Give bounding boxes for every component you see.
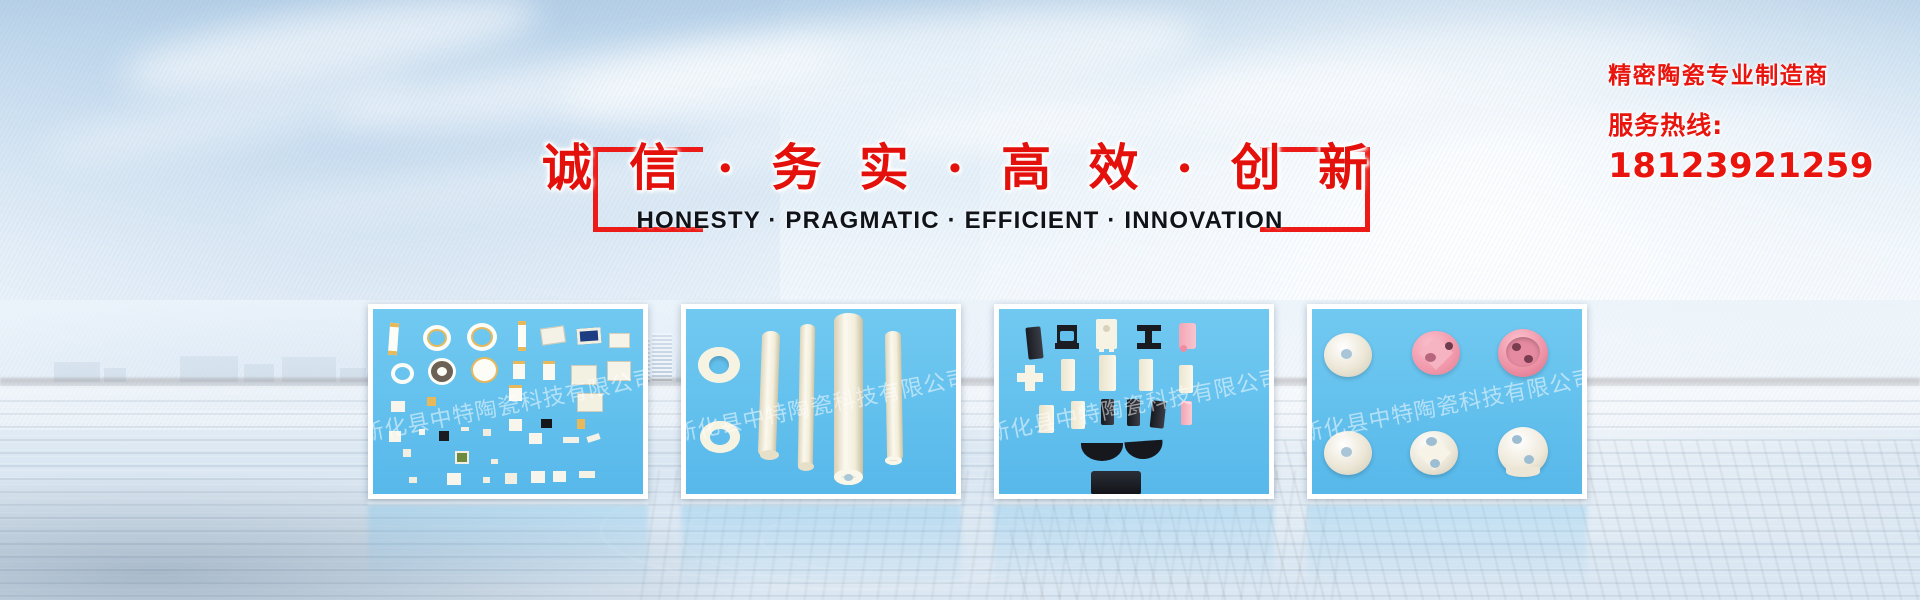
hotline-number[interactable]: 18123921259 <box>1608 146 1874 186</box>
panel-image: 新化县中特陶瓷科技有限公司 <box>373 309 643 494</box>
panel-image: 新化县中特陶瓷科技有限公司 <box>999 309 1269 494</box>
product-panel-ceramic-blocks-blades[interactable]: 新化县中特陶瓷科技有限公司 <box>994 304 1274 499</box>
product-panel-smd-ceramic-components[interactable]: 新化县中特陶瓷科技有限公司 <box>368 304 648 499</box>
hotline-label: 服务热线: <box>1608 106 1874 142</box>
panel-image: 新化县中特陶瓷科技有限公司 <box>1312 309 1582 494</box>
slogan-english: HONESTY · PRAGMATIC · EFFICIENT · INNOVA… <box>0 207 1920 235</box>
panel-reflections <box>368 505 1587 583</box>
contact-block: 精密陶瓷专业制造商 服务热线: 18123921259 <box>1608 56 1874 186</box>
manufacturer-tagline: 精密陶瓷专业制造商 <box>1608 56 1874 90</box>
panel-image: 新化县中特陶瓷科技有限公司 <box>686 309 956 494</box>
product-panel-ceramic-tubes-rings[interactable]: 新化县中特陶瓷科技有限公司 <box>681 304 961 499</box>
promo-banner: 诚 信 · 务 实 · 高 效 · 创 新 HONESTY · PRAGMATI… <box>0 0 1920 600</box>
product-panel-ceramic-discs-nozzles[interactable]: 新化县中特陶瓷科技有限公司 <box>1307 304 1587 499</box>
product-gallery: 新化县中特陶瓷科技有限公司 新化县中 <box>368 304 1587 499</box>
